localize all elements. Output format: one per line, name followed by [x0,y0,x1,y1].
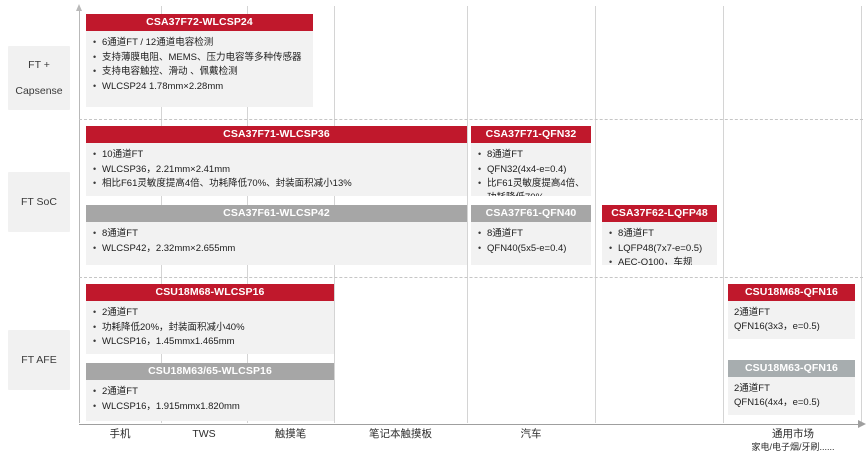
list-item: WLCSP16，1.45mmx1.465mm [102,335,330,349]
list-item: 相比F61灵敏度提高4倍、功耗降低70%、封装面积减小13% [102,177,463,191]
list-item: QFN40(5x5-e=0.4) [487,242,587,256]
x-axis-label-text: 通用市场 [772,428,814,440]
list-item: 2通道FT [102,385,330,399]
product-card-csa37f71-qfn32[interactable]: CSA37F71-QFN32 8通道FT QFN32(4x4-e=0.4) 比F… [471,126,591,196]
product-card-csu18m68-qfn16[interactable]: CSU18M68-QFN16 2通道FT QFN16(3x3，e=0.5) [728,284,855,339]
list-item: AEC-Q100，车规 [618,256,713,265]
grid-line-4 [467,6,468,423]
x-axis-label-text: 手机 [110,428,131,440]
list-item: QFN32(4x4-e=0.4) [487,163,587,177]
card-bullet-list: 2通道FT WLCSP16，1.915mmx1.820mm [86,380,334,418]
card-bullet-list: 10通道FT WLCSP36，2.21mm×2.41mm 相比F61灵敏度提高4… [86,143,467,196]
row-label-ft-capsense: FT + Capsense [8,46,70,110]
y-axis-line [79,10,80,423]
row-label-ft-afe: FT AFE [8,330,70,390]
list-item: WLCSP42，2.32mm×2.655mm [102,242,463,256]
card-title: CSA37F61-WLCSP42 [86,205,467,222]
list-item: 2通道FT [102,306,330,320]
card-title: CSA37F72-WLCSP24 [86,14,313,31]
band-separator-1 [79,119,863,120]
product-card-csa37f72-wlcsp24[interactable]: CSA37F72-WLCSP24 6通道FT / 12通道电容检测 支持薄膜电阻… [86,14,313,107]
card-bullet-list: 8通道FT LQFP48(7x7-e=0.5) AEC-Q100，车规 [602,222,717,265]
card-title: CSA37F71-WLCSP36 [86,126,467,143]
x-axis-line [79,424,862,425]
x-axis-label-stylus: 触摸笔 [247,428,334,441]
x-axis-sublabel-text: 家电/电子烟/牙刷...... [723,441,863,453]
list-item: 8通道FT [618,227,713,241]
x-axis-label-phone: 手机 [79,428,161,441]
row-label-ft-afe-text: FT AFE [21,354,56,367]
list-item: 10通道FT [102,148,463,162]
card-title: CSA37F61-QFN40 [471,205,591,222]
card-bullet-list: 6通道FT / 12通道电容检测 支持薄膜电阻、MEMS、压力电容等多种传感器 … [86,31,313,98]
card-bullet-list: 8通道FT WLCSP42，2.32mm×2.655mm [86,222,467,260]
list-item: 8通道FT [102,227,463,241]
card-bullet-list: 8通道FT QFN40(5x5-e=0.4) [471,222,591,260]
card-bullet-list: 2通道FT 功耗降低20%，封装面积减小40% WLCSP16，1.45mmx1… [86,301,334,354]
card-title: CSU18M68-WLCSP16 [86,284,334,301]
row-label-ft-soc-text: FT SoC [21,196,57,209]
card-title: CSA37F71-QFN32 [471,126,591,143]
list-item: WLCSP16，1.915mmx1.820mm [102,400,330,414]
diagram-root: FT + Capsense FT SoC FT AFE CSA37F72-WLC… [0,0,866,454]
list-item: 支持薄膜电阻、MEMS、压力电容等多种传感器 [102,51,309,65]
list-item: 2通道FT [734,382,850,396]
product-card-csa37f71-wlcsp36[interactable]: CSA37F71-WLCSP36 10通道FT WLCSP36，2.21mm×2… [86,126,467,196]
x-axis-arrow [858,420,866,428]
row-label-ft-capsense-line2: Capsense [15,85,62,98]
list-item: QFN16(4x4，e=0.5) [734,396,850,410]
list-item: WLCSP24 1.78mm×2.28mm [102,80,309,94]
product-card-csa37f61-qfn40[interactable]: CSA37F61-QFN40 8通道FT QFN40(5x5-e=0.4) [471,205,591,265]
list-item: 功耗降低20%，封装面积减小40% [102,321,330,335]
band-separator-2 [79,277,863,278]
row-label-ft-soc: FT SoC [8,172,70,232]
card-title: CSA37F62-LQFP48 [602,205,717,222]
x-axis-label-text: TWS [192,428,215,440]
list-item: 8通道FT [487,148,587,162]
grid-line-5 [595,6,596,423]
card-bullet-list: 8通道FT QFN32(4x4-e=0.4) 比F61灵敏度提高4倍、功耗降低7… [471,143,591,196]
list-item: LQFP48(7x7-e=0.5) [618,242,713,256]
card-text-block: 2通道FT QFN16(3x3，e=0.5) [728,301,855,338]
product-card-csu18m68-wlcsp16[interactable]: CSU18M68-WLCSP16 2通道FT 功耗降低20%，封装面积减小40%… [86,284,334,354]
x-axis-label-general: 通用市场 家电/电子烟/牙刷...... [723,428,863,453]
x-axis-label-text: 笔记本触摸板 [369,428,432,440]
product-card-csu18m63-65-wlcsp16[interactable]: CSU18M63/65-WLCSP16 2通道FT WLCSP16，1.915m… [86,363,334,421]
card-text-block: 2通道FT QFN16(4x4，e=0.5) [728,377,855,414]
grid-line-7 [861,6,862,423]
list-item: WLCSP36，2.21mm×2.41mm [102,163,463,177]
x-axis-label-text: 触摸笔 [275,428,307,440]
list-item: 比F61灵敏度提高4倍、功耗降低70% [487,177,587,196]
card-title: CSU18M68-QFN16 [728,284,855,301]
grid-line-6 [723,6,724,423]
y-axis-arrow [76,4,82,11]
list-item: QFN16(3x3，e=0.5) [734,320,850,334]
card-title: CSU18M63-QFN16 [728,360,855,377]
list-item: 支持电容触控、滑动 、佩戴检测 [102,65,309,79]
x-axis-label-text: 汽车 [521,428,542,440]
list-item: 6通道FT / 12通道电容检测 [102,36,309,50]
row-label-ft-capsense-line1: FT + [15,59,62,72]
card-title: CSU18M63/65-WLCSP16 [86,363,334,380]
product-card-csa37f61-wlcsp42[interactable]: CSA37F61-WLCSP42 8通道FT WLCSP42，2.32mm×2.… [86,205,467,265]
product-card-csu18m63-qfn16[interactable]: CSU18M63-QFN16 2通道FT QFN16(4x4，e=0.5) [728,360,855,415]
x-axis-label-laptop: 笔记本触摸板 [334,428,467,441]
x-axis-label-tws: TWS [161,428,247,441]
plot-area: CSA37F72-WLCSP24 6通道FT / 12通道电容检测 支持薄膜电阻… [79,6,862,423]
list-item: 8通道FT [487,227,587,241]
list-item: 2通道FT [734,306,850,320]
product-card-csa37f62-lqfp48[interactable]: CSA37F62-LQFP48 8通道FT LQFP48(7x7-e=0.5) … [602,205,717,265]
x-axis-label-auto: 汽车 [467,428,595,441]
